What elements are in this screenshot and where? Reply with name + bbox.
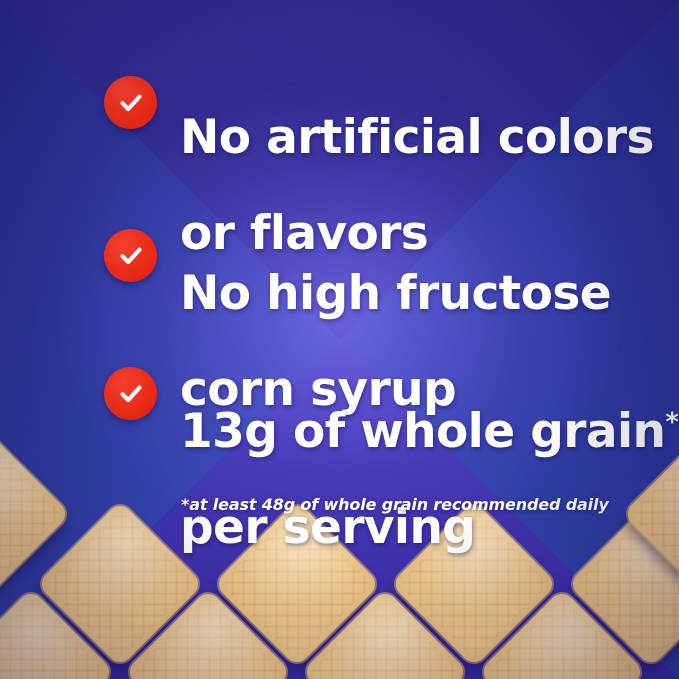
vignette-overlay bbox=[0, 0, 679, 679]
product-benefits-graphic: No artificial colors or flavors No high … bbox=[0, 0, 679, 679]
